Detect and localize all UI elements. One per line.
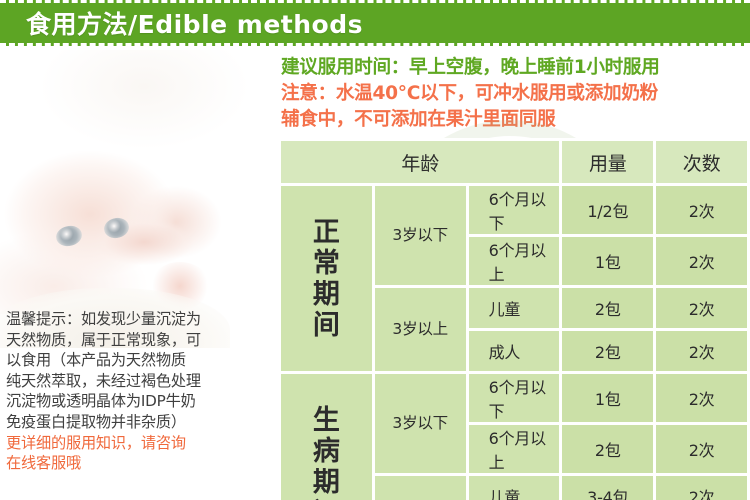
caption-line-accent: 在线客服哦 [6,453,272,474]
times-cell: 2次 [656,476,747,500]
age-group-label: 3岁以下 [375,186,466,285]
baby-photo-image [0,50,278,314]
dosage-table: 年龄 用量 次数 正常期间 3岁以下 6个月以下 1/2包 2次 6个月以上 1… [278,138,750,500]
times-cell: 2次 [656,374,747,422]
table-header-row: 年龄 用量 次数 [281,141,747,183]
age-cell: 6个月以下 [469,186,560,234]
amount-cell: 2包 [562,331,653,371]
age-group-label: 3岁以上 [375,288,466,371]
amount-cell: 2包 [562,288,653,328]
table-header-amount: 用量 [562,141,653,183]
caption-line-accent: 更详细的服用知识，请咨询 [6,433,272,454]
table-row: 正常期间 3岁以下 6个月以下 1/2包 2次 [281,186,747,234]
note-line-recommended-time: 建议服用时间：早上空腹，晚上睡前1小时服用 [281,55,749,81]
table-header-age: 年龄 [281,141,559,183]
times-cell: 2次 [656,186,747,234]
age-cell: 成人 [469,331,560,371]
caption-line: 以食用（本产品为天然物质 [6,350,272,371]
usage-notes: 建议服用时间：早上空腹，晚上睡前1小时服用 注意：水温40°C以下，可冲水服用或… [281,55,749,133]
caption-line: 温馨提示：如发现少量沉淀为 [6,309,272,330]
product-instruction-page: 食用方法/Edible methods 温馨提示：如发现少量沉淀为 天然物质，属… [0,0,750,500]
age-group-label: 3岁以上 [375,476,466,500]
age-cell: 6个月以上 [469,425,560,473]
amount-cell: 2包 [562,425,653,473]
times-cell: 2次 [656,237,747,285]
age-cell: 儿童 [469,288,560,328]
section-header-bar: 食用方法/Edible methods [0,0,750,46]
caption-line: 沉淀物或透明晶体为IDP牛奶 [6,391,272,412]
note-line-warning-1: 注意：水温40°C以下，可冲水服用或添加奶粉 [281,81,749,107]
caption-line: 纯天然萃取，未经过褐色处理 [6,371,272,392]
amount-cell: 1/2包 [562,186,653,234]
tips-caption: 温馨提示：如发现少量沉淀为 天然物质，属于正常现象，可 以食用（本产品为天然物质… [6,309,272,474]
period-label-normal: 正常期间 [281,186,372,371]
page-title: 食用方法/Edible methods [26,5,363,41]
note-line-warning-2: 辅食中，不可添加在果汁里面同服 [281,107,749,133]
times-cell: 2次 [656,425,747,473]
table-row: 生病期间 3岁以下 6个月以下 1包 2次 [281,374,747,422]
age-cell: 6个月以下 [469,374,560,422]
caption-line: 免疫蛋白提取物并非杂质） [6,412,272,433]
age-cell: 儿童 [469,476,560,500]
amount-cell: 1包 [562,374,653,422]
times-cell: 2次 [656,288,747,328]
caption-line: 天然物质，属于正常现象，可 [6,330,272,351]
age-group-label: 3岁以下 [375,374,466,473]
times-cell: 2次 [656,331,747,371]
period-label-sick: 生病期间 [281,374,372,500]
table-header-times: 次数 [656,141,747,183]
amount-cell: 1包 [562,237,653,285]
age-cell: 6个月以上 [469,237,560,285]
amount-cell: 3-4包 [562,476,653,500]
